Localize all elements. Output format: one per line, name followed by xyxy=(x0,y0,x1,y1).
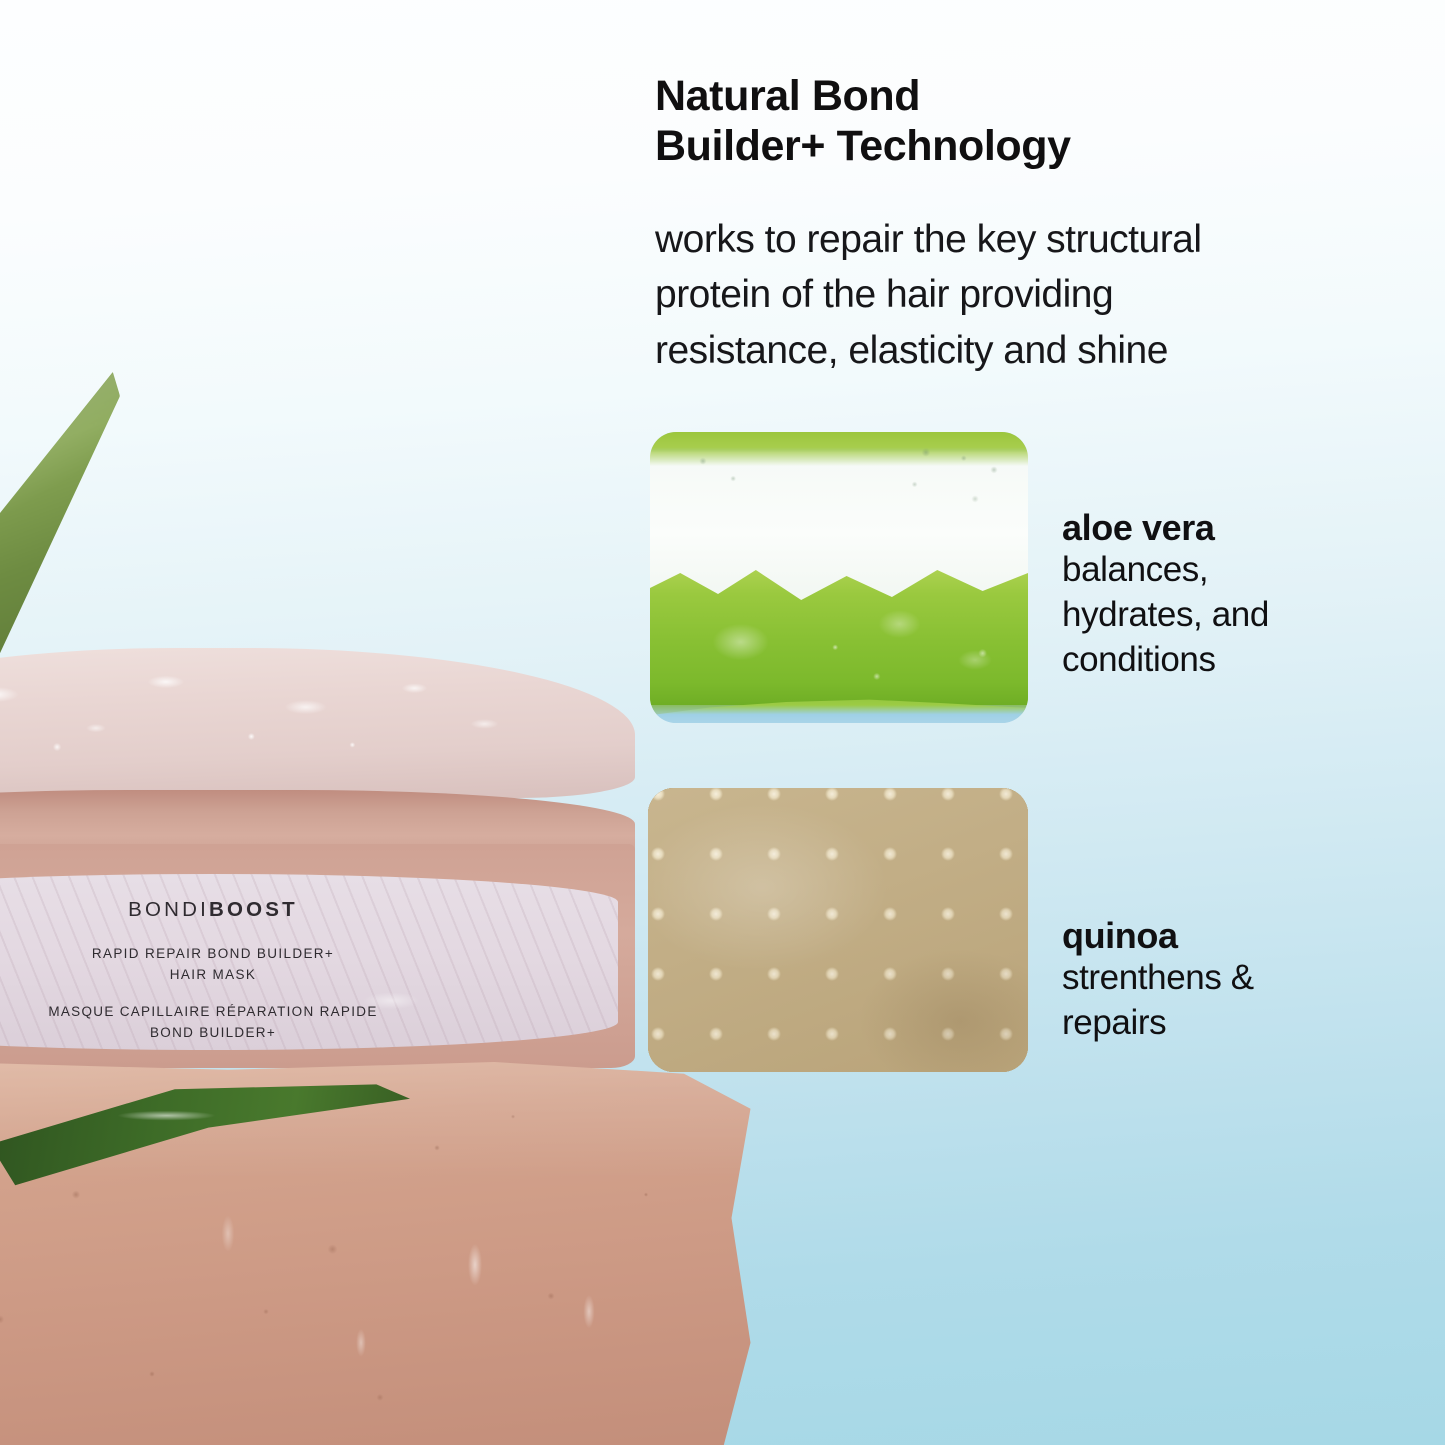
ingredient-description-line2: hydrates, and xyxy=(1062,593,1392,638)
ingredient-name: aloe vera xyxy=(1062,508,1392,548)
page-title-line1: Natural Bond xyxy=(655,72,1385,122)
ingredient-description: balances, hydrates, and conditions xyxy=(1062,548,1392,682)
product-name-en-line1: RAPID REPAIR BOND BUILDER+ xyxy=(0,944,618,965)
jar-lid xyxy=(0,648,635,798)
page-title: Natural Bond Builder+ Technology xyxy=(655,72,1385,172)
product-name-en-line2: HAIR MASK xyxy=(0,965,618,986)
ingredient-description-line1: balances, xyxy=(1062,548,1392,593)
aloe-leaf-icon xyxy=(0,372,120,672)
brand-logo-bold: BOOST xyxy=(209,898,298,921)
product-name-fr-line2: BOND BUILDER+ xyxy=(0,1023,618,1044)
quinoa-image xyxy=(648,788,1028,1072)
jar-body: BONDIBOOST RAPID REPAIR BOND BUILDER+ HA… xyxy=(0,844,635,1068)
quinoa-seeds-shading xyxy=(648,788,1028,1072)
aloe-gel-bubbles xyxy=(650,432,1028,723)
product-label: BONDIBOOST RAPID REPAIR BOND BUILDER+ HA… xyxy=(0,874,618,1050)
ingredient-quinoa: quinoa strenthens & repairs xyxy=(1062,916,1392,1046)
ingredient-aloe-vera: aloe vera balances, hydrates, and condit… xyxy=(1062,508,1392,683)
page-subcopy-line2: protein of the hair providing xyxy=(655,267,1375,322)
brand-logo-light: BONDI xyxy=(128,898,209,921)
product-name-fr-line1: MASQUE CAPILLAIRE RÉPARATION RAPIDE xyxy=(0,1002,618,1023)
page-subcopy-line3: resistance, elasticity and shine xyxy=(655,323,1375,378)
ingredient-description: strenthens & repairs xyxy=(1062,956,1392,1046)
ingredient-description-line3: conditions xyxy=(1062,638,1392,683)
product-label-text: BONDIBOOST RAPID REPAIR BOND BUILDER+ HA… xyxy=(0,898,618,1050)
aloe-vera-image xyxy=(650,432,1028,723)
page-subcopy: works to repair the key structural prote… xyxy=(655,212,1375,378)
product-jar: BONDIBOOST RAPID REPAIR BOND BUILDER+ HA… xyxy=(0,648,635,1068)
product-marketing-image: BONDIBOOST RAPID REPAIR BOND BUILDER+ HA… xyxy=(0,0,1445,1445)
ingredient-description-line2: repairs xyxy=(1062,1001,1392,1046)
brand-logo: BONDIBOOST xyxy=(0,898,618,922)
page-title-line2: Builder+ Technology xyxy=(655,122,1385,172)
product-name-en: RAPID REPAIR BOND BUILDER+ HAIR MASK xyxy=(0,944,618,985)
ingredient-description-line1: strenthens & xyxy=(1062,956,1392,1001)
product-name-fr: MASQUE CAPILLAIRE RÉPARATION RAPIDE BOND… xyxy=(0,1002,618,1043)
ingredient-name: quinoa xyxy=(1062,916,1392,956)
page-subcopy-line1: works to repair the key structural xyxy=(655,212,1375,267)
